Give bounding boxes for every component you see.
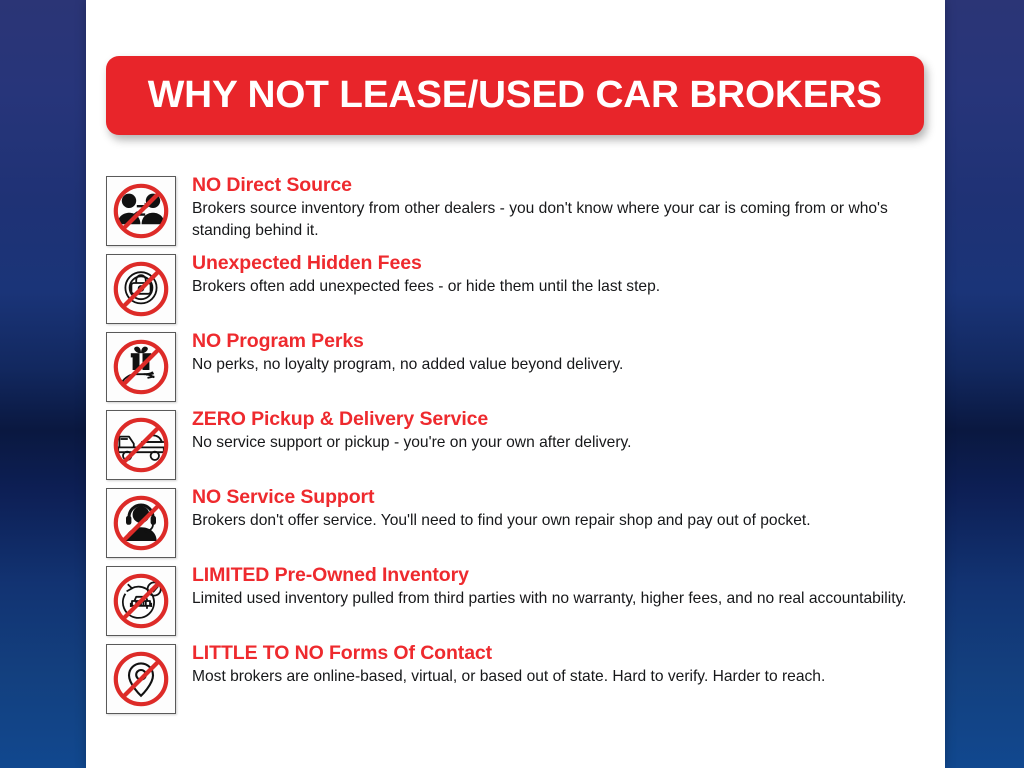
reason-title: NO Direct Source	[192, 174, 936, 197]
reason-description: Brokers don't offer service. You'll need…	[192, 510, 932, 532]
reason-text-block: NO Direct Source Brokers source inventor…	[192, 172, 936, 241]
reason-text-block: NO Service Support Brokers don't offer s…	[192, 484, 936, 532]
no-tow-truck-icon	[106, 410, 176, 480]
list-item: Unexpected Hidden Fees Brokers often add…	[106, 250, 936, 328]
reason-description: No perks, no loyalty program, no added v…	[192, 354, 932, 376]
reasons-list: NO Direct Source Brokers source inventor…	[106, 172, 936, 718]
list-item: LITTLE TO NO Forms Of Contact Most broke…	[106, 640, 936, 718]
reason-title: Unexpected Hidden Fees	[192, 252, 936, 275]
reason-text-block: NO Program Perks No perks, no loyalty pr…	[192, 328, 936, 376]
reason-description: Limited used inventory pulled from third…	[192, 588, 932, 610]
poster-background: WHY NOT LEASE/USED CAR BROKERS	[0, 0, 1024, 768]
no-headset-support-icon	[106, 488, 176, 558]
no-headset-support-glyph	[111, 493, 171, 553]
list-item: LIMITED Pre-Owned Inventory Limited used…	[106, 562, 936, 640]
title-banner: WHY NOT LEASE/USED CAR BROKERS	[106, 56, 924, 135]
banner-title: WHY NOT LEASE/USED CAR BROKERS	[148, 74, 882, 117]
reason-description: Most brokers are online-based, virtual, …	[192, 666, 932, 688]
reason-title: NO Program Perks	[192, 330, 936, 353]
list-item: NO Direct Source Brokers source inventor…	[106, 172, 936, 250]
no-gift-perks-icon	[106, 332, 176, 402]
no-tow-truck-glyph	[111, 415, 171, 475]
reason-title: ZERO Pickup & Delivery Service	[192, 408, 936, 431]
no-certified-car-icon	[106, 566, 176, 636]
no-gift-perks-glyph	[111, 337, 171, 397]
reason-description: Brokers often add unexpected fees - or h…	[192, 276, 932, 298]
no-direct-source-icon	[106, 176, 176, 246]
reason-description: Brokers source inventory from other deal…	[192, 198, 932, 241]
list-item: NO Program Perks No perks, no loyalty pr…	[106, 328, 936, 406]
list-item: NO Service Support Brokers don't offer s…	[106, 484, 936, 562]
no-hidden-fees-icon	[106, 254, 176, 324]
reason-text-block: LITTLE TO NO Forms Of Contact Most broke…	[192, 640, 936, 688]
reason-text-block: LIMITED Pre-Owned Inventory Limited used…	[192, 562, 936, 610]
reason-title: LITTLE TO NO Forms Of Contact	[192, 642, 936, 665]
reason-text-block: ZERO Pickup & Delivery Service No servic…	[192, 406, 936, 454]
reason-text-block: Unexpected Hidden Fees Brokers often add…	[192, 250, 936, 298]
content-card: WHY NOT LEASE/USED CAR BROKERS	[86, 0, 945, 768]
reason-title: NO Service Support	[192, 486, 936, 509]
list-item: ZERO Pickup & Delivery Service No servic…	[106, 406, 936, 484]
reason-title: LIMITED Pre-Owned Inventory	[192, 564, 936, 587]
no-hidden-fees-glyph	[111, 259, 171, 319]
no-location-pin-icon	[106, 644, 176, 714]
no-location-pin-glyph	[111, 649, 171, 709]
no-certified-car-glyph	[111, 571, 171, 631]
no-direct-source-glyph	[111, 181, 171, 241]
reason-description: No service support or pickup - you're on…	[192, 432, 932, 454]
